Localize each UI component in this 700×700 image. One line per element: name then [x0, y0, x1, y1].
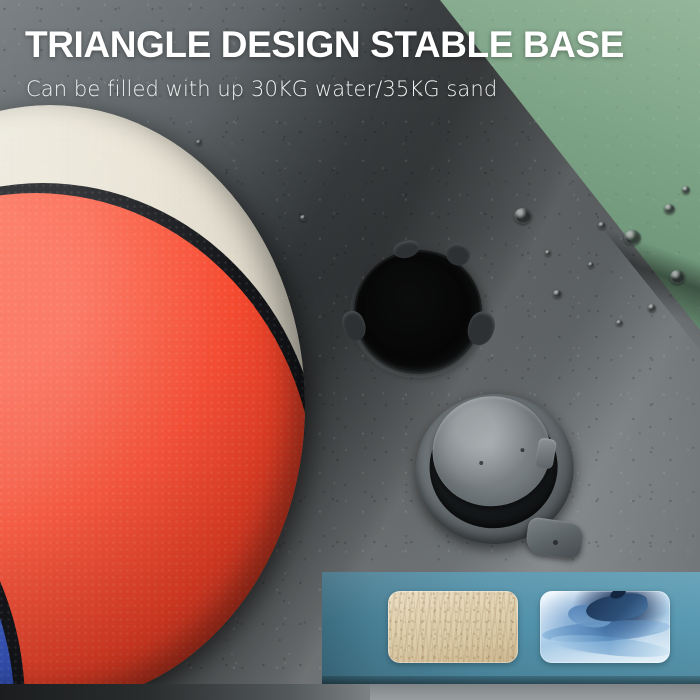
water-droplet	[682, 186, 690, 194]
fill-cap-assembly	[406, 378, 586, 567]
product-photo-stage: TRIANGLE DESIGN STABLE BASE Can be fille…	[0, 0, 700, 700]
water-droplet	[545, 250, 551, 256]
text-overlay-block: TRIANGLE DESIGN STABLE BASE Can be fille…	[25, 26, 665, 101]
water-droplet	[196, 140, 202, 145]
sand-texture	[388, 591, 518, 663]
water-droplet	[648, 304, 656, 312]
fill-media-banner-shadow	[322, 676, 700, 684]
water-droplet	[616, 320, 623, 326]
water-fill-tile	[540, 591, 670, 663]
water-droplet	[598, 222, 606, 229]
water-droplet	[670, 270, 685, 284]
water-droplet	[300, 215, 307, 221]
fill-media-banner	[322, 572, 700, 684]
water-droplet	[588, 262, 594, 268]
page-title: TRIANGLE DESIGN STABLE BASE	[25, 26, 665, 64]
fill-cap-strap	[524, 516, 584, 559]
water-splash-texture	[540, 591, 670, 663]
bottom-floor-strip-dark	[0, 684, 370, 700]
water-droplet	[624, 230, 641, 245]
fill-port-hole	[350, 246, 486, 378]
page-subtitle: Can be filled with up 30KG water/35KG sa…	[26, 77, 665, 101]
water-droplet	[514, 208, 532, 224]
water-droplet	[553, 290, 562, 298]
sand-fill-tile	[388, 591, 518, 663]
water-droplet	[664, 204, 675, 214]
